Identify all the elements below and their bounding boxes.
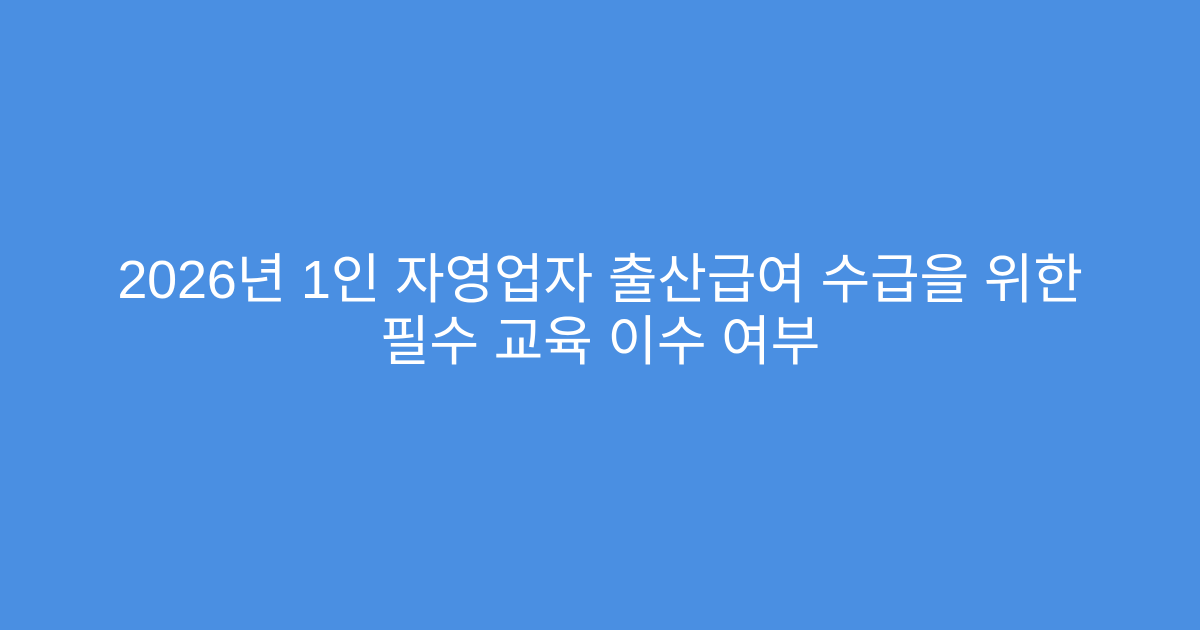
- og-image-card: 2026년 1인 자영업자 출산급여 수급을 위한 필수 교육 이수 여부: [0, 0, 1200, 630]
- page-title: 2026년 1인 자영업자 출산급여 수급을 위한 필수 교육 이수 여부: [70, 249, 1130, 373]
